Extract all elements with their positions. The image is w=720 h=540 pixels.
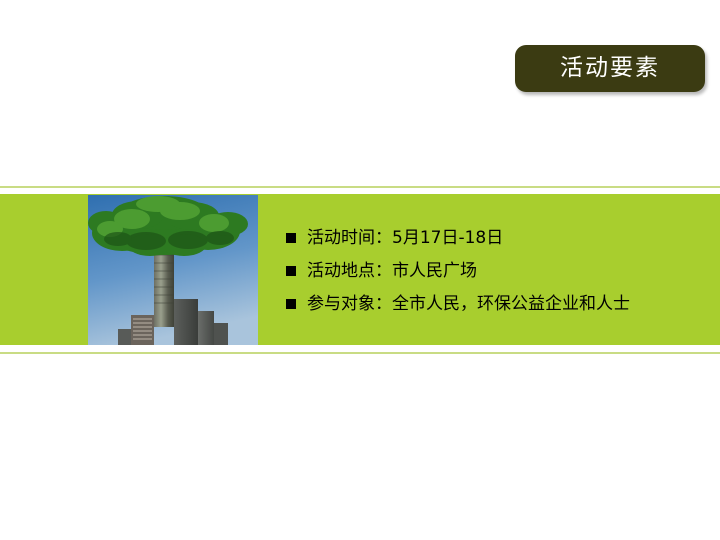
list-item-label: 活动地点：市人民广场 [307, 259, 477, 283]
tree-on-skyscraper-image [88, 195, 258, 345]
list-item: 活动地点：市人民广场 [286, 259, 706, 292]
list-item: 活动时间：5月17日-18日 [286, 226, 706, 259]
slide-canvas: 活动要素 [0, 0, 720, 540]
list-item: 参与对象：全市人民，环保公益企业和人士 [286, 292, 706, 325]
activity-details-list: 活动时间：5月17日-18日 活动地点：市人民广场 参与对象：全市人民，环保公益… [286, 226, 706, 325]
divider-line-top [0, 186, 720, 188]
square-bullet-icon [286, 233, 296, 243]
list-item-label: 活动时间：5月17日-18日 [307, 226, 503, 250]
photo-artwork [88, 195, 258, 345]
page-title: 活动要素 [560, 57, 660, 80]
divider-line-bottom [0, 352, 720, 354]
title-badge: 活动要素 [515, 45, 705, 92]
square-bullet-icon [286, 299, 296, 309]
list-item-label: 参与对象：全市人民，环保公益企业和人士 [307, 292, 630, 316]
square-bullet-icon [286, 266, 296, 276]
